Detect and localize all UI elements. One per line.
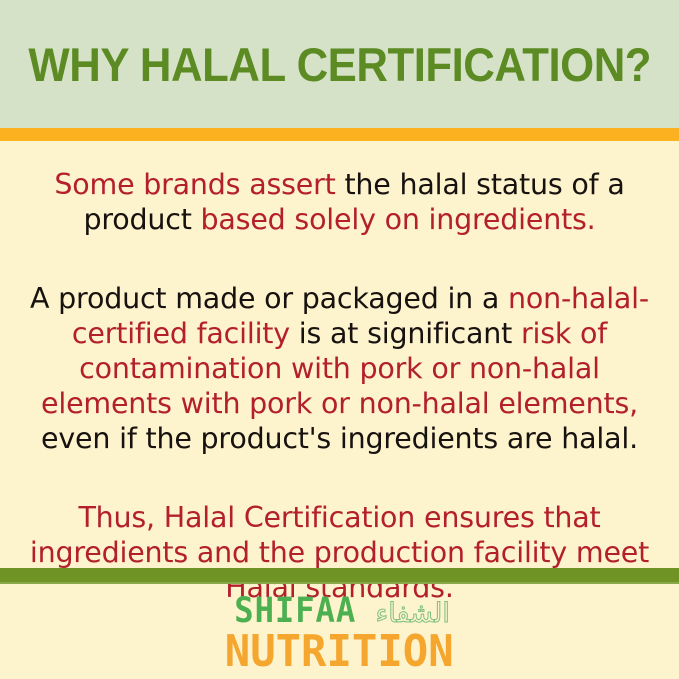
green-divider-hairline <box>0 582 679 584</box>
logo-top-row: SHIFAA الشفاء <box>229 594 450 629</box>
paragraph-1-segment-1: Some brands assert <box>54 168 344 201</box>
brand-logo: SHIFAA الشفاء NUTRITION <box>0 588 679 679</box>
orange-divider <box>0 128 679 141</box>
logo-arabic-script: الشفاء <box>376 600 450 627</box>
paragraph-2-segment-3: is at significant <box>299 317 521 350</box>
paragraph-1-segment-3: based solely on ingredients. <box>201 203 596 236</box>
body-content: Some brands assert the halal status of a… <box>0 141 679 568</box>
green-divider <box>0 568 679 582</box>
paragraph-2: A product made or packaged in a non-hala… <box>16 281 663 456</box>
logo-wordmark-nutrition: NUTRITION <box>225 630 454 674</box>
logo-wordmark-shifaa: SHIFAA <box>234 594 356 629</box>
paragraph-2-segment-1: A product made or packaged in a <box>30 282 508 315</box>
header-band: WHY HALAL CERTIFICATION? <box>0 0 679 128</box>
paragraph-2-segment-5: even if the product's ingredients are ha… <box>41 422 638 455</box>
paragraph-1: Some brands assert the halal status of a… <box>16 167 663 237</box>
page-title: WHY HALAL CERTIFICATION? <box>23 41 657 88</box>
poster-root: WHY HALAL CERTIFICATION? Some brands ass… <box>0 0 679 679</box>
